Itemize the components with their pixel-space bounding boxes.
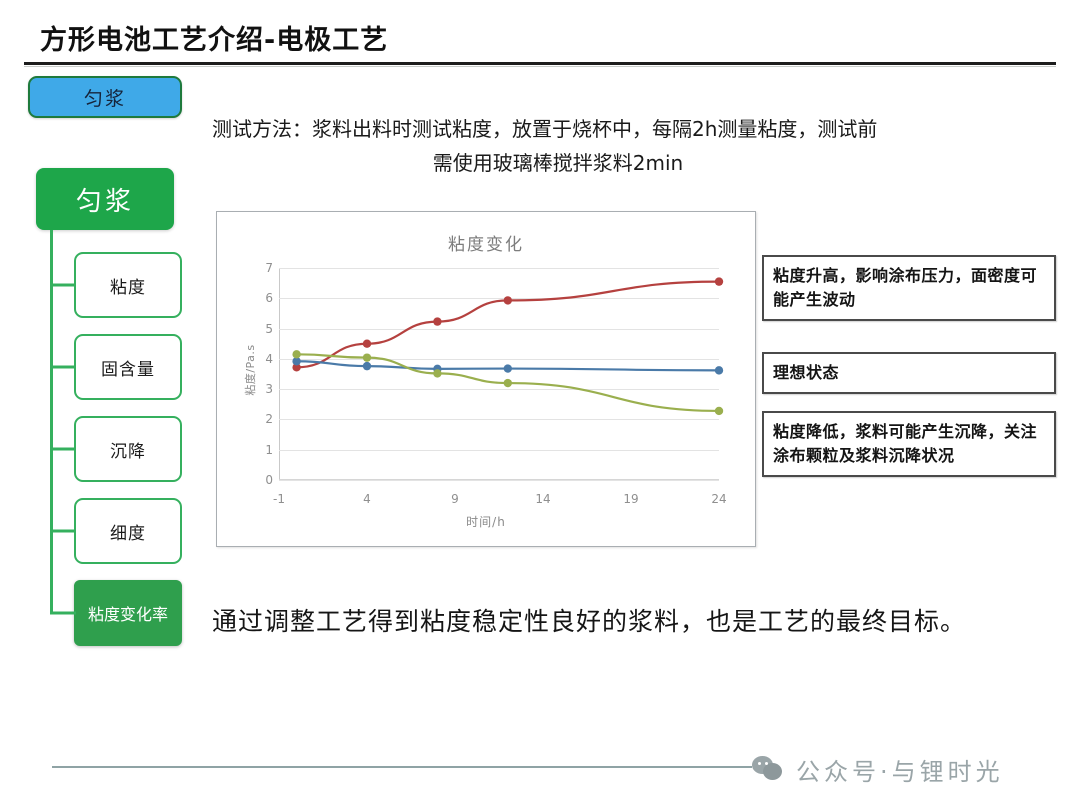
- chart-x-tick: 19: [611, 480, 651, 506]
- chart-x-tick: -1: [259, 480, 299, 506]
- tab-yunjiang[interactable]: 匀浆: [28, 76, 182, 118]
- chart-plot-area: 01234567-149141924: [279, 268, 719, 480]
- method-description: 测试方法：浆料出料时测试粘度，放置于烧杯中，每隔2h测量粘度，测试前 需使用玻璃…: [212, 112, 1024, 180]
- method-line-2: 需使用玻璃棒搅拌浆料2min: [212, 146, 1024, 180]
- chart-series-layer: [279, 268, 719, 480]
- chart-y-tick: 1: [249, 443, 273, 457]
- slide-root: 方形电池工艺介绍-电极工艺 匀浆 匀浆 粘度 固含量 沉降 细度 粘度变化率 测…: [0, 0, 1080, 810]
- chart-data-point: [433, 317, 441, 325]
- sidebar-item-label: 固含量: [101, 355, 155, 380]
- sidebar-item-guhanliang[interactable]: 固含量: [74, 334, 182, 400]
- tree-branch-icon: [50, 612, 76, 615]
- chart-x-tick: 24: [699, 480, 739, 506]
- chart-y-tick: 2: [249, 412, 273, 426]
- chart-y-tick: 3: [249, 382, 273, 396]
- sidebar-item-label: 细度: [110, 519, 146, 544]
- chart-x-tick: 4: [347, 480, 387, 506]
- title-divider-secondary: [24, 66, 1056, 67]
- chart-data-point: [715, 277, 723, 285]
- chart-data-point: [715, 407, 723, 415]
- tree-head-yunjiang[interactable]: 匀浆: [36, 168, 174, 230]
- tree-branch-icon: [50, 448, 76, 451]
- chart-data-point: [504, 364, 512, 372]
- callout-viscosity-decrease: 粘度降低，浆料可能产生沉降，关注涂布颗粒及浆料沉降状况: [762, 411, 1056, 477]
- chart-x-tick: 9: [435, 480, 475, 506]
- title-divider: [24, 62, 1056, 65]
- chart-y-tick: 7: [249, 261, 273, 275]
- sidebar-item-label: 沉降: [110, 437, 146, 462]
- tree-branch-icon: [50, 530, 76, 533]
- conclusion-text: 通过调整工艺得到粘度稳定性良好的浆料，也是工艺的最终目标。: [212, 602, 1032, 638]
- chart-data-point: [292, 350, 300, 358]
- chart-data-point: [363, 353, 371, 361]
- chart-y-tick: 6: [249, 291, 273, 305]
- chart-line-粘度升高: [297, 282, 719, 368]
- sidebar-item-label: 粘度变化率: [88, 601, 168, 625]
- wechat-icon: [752, 756, 786, 782]
- page-title: 方形电池工艺介绍-电极工艺: [40, 18, 388, 57]
- chart-data-point: [504, 296, 512, 304]
- chart-y-tick: 5: [249, 322, 273, 336]
- tree-trunk: [50, 230, 53, 614]
- chart-gridline: [279, 480, 719, 481]
- footer-text: 公众号·与锂时光: [796, 752, 1004, 787]
- sidebar-item-niandubianhualv[interactable]: 粘度变化率: [74, 580, 182, 646]
- sidebar-item-label: 粘度: [110, 273, 146, 298]
- callout-ideal-state: 理想状态: [762, 352, 1056, 394]
- process-tree: 匀浆 粘度 固含量 沉降 细度 粘度变化率: [36, 168, 206, 648]
- chart-title: 粘度变化: [217, 230, 755, 255]
- method-line-1: 测试方法：浆料出料时测试粘度，放置于烧杯中，每隔2h测量粘度，测试前: [212, 117, 877, 141]
- viscosity-chart: 粘度变化 粘度/Pa.s 时间/h 01234567-149141924: [216, 211, 756, 547]
- sidebar-item-chenjiang[interactable]: 沉降: [74, 416, 182, 482]
- tree-branch-icon: [50, 366, 76, 369]
- chart-data-point: [504, 379, 512, 387]
- chart-data-point: [433, 369, 441, 377]
- footer: 公众号·与锂时光: [752, 748, 1052, 790]
- footer-divider: [52, 766, 752, 768]
- chart-x-axis-label: 时间/h: [217, 513, 755, 530]
- sidebar-item-niandu[interactable]: 粘度: [74, 252, 182, 318]
- chart-data-point: [363, 340, 371, 348]
- sidebar-item-xidu[interactable]: 细度: [74, 498, 182, 564]
- chart-x-tick: 14: [523, 480, 563, 506]
- tree-branch-icon: [50, 284, 76, 287]
- chart-y-tick: 4: [249, 352, 273, 366]
- chart-data-point: [363, 362, 371, 370]
- callout-viscosity-increase: 粘度升高，影响涂布压力，面密度可能产生波动: [762, 255, 1056, 321]
- chart-data-point: [715, 366, 723, 374]
